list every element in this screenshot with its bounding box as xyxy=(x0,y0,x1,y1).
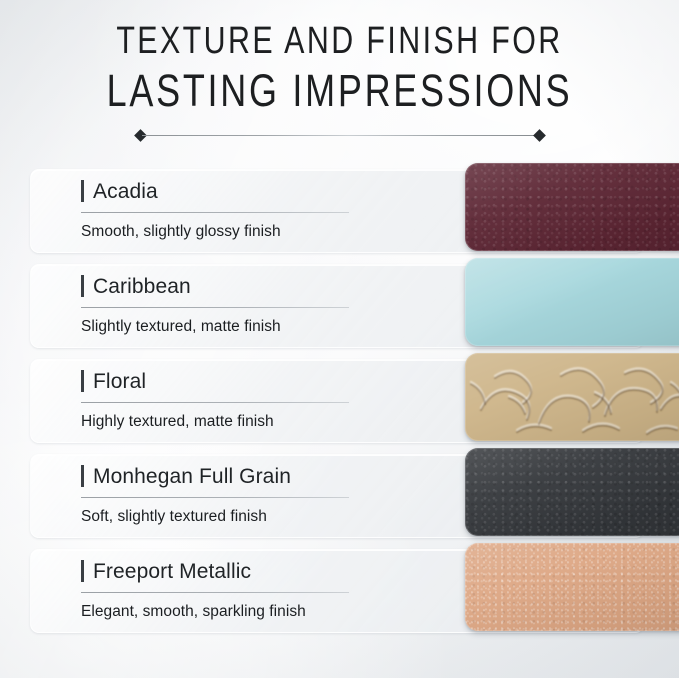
swatch-base-color xyxy=(465,543,679,631)
finish-row[interactable]: Monhegan Full GrainSoft, slightly textur… xyxy=(0,448,679,543)
finish-row[interactable]: FloralHighly textured, matte finish xyxy=(0,353,679,448)
finish-description: Smooth, slightly glossy finish xyxy=(81,224,381,240)
diamond-right-icon xyxy=(533,129,546,142)
finish-name-row: Freeport Metallic xyxy=(81,556,381,586)
finish-name-row: Caribbean xyxy=(81,271,381,301)
finish-list: AcadiaSmooth, slightly glossy finishCari… xyxy=(0,163,679,638)
title-divider-ornament xyxy=(136,130,544,141)
finish-card-text: AcadiaSmooth, slightly glossy finish xyxy=(81,176,381,240)
swatch-base-color xyxy=(465,163,679,251)
finish-name-row: Monhegan Full Grain xyxy=(81,461,381,491)
finish-name-row: Floral xyxy=(81,366,381,396)
finish-name-underline xyxy=(81,497,349,498)
finish-name-underline xyxy=(81,307,349,308)
finish-description: Highly textured, matte finish xyxy=(81,414,381,430)
finish-card-text: Freeport MetallicElegant, smooth, sparkl… xyxy=(81,556,381,620)
finish-description: Soft, slightly textured finish xyxy=(81,509,381,525)
accent-bar-icon xyxy=(81,180,84,202)
accent-bar-icon xyxy=(81,275,84,297)
color-swatch-acadia[interactable] xyxy=(465,163,679,251)
finish-name: Floral xyxy=(93,371,146,392)
finish-name: Monhegan Full Grain xyxy=(93,466,291,487)
divider-line xyxy=(142,135,538,136)
finish-row[interactable]: CaribbeanSlightly textured, matte finish xyxy=(0,258,679,353)
page-title-line-1: TEXTURE AND FINISH FOR xyxy=(68,22,611,60)
finish-name-underline xyxy=(81,212,349,213)
accent-bar-icon xyxy=(81,465,84,487)
color-swatch-freeport-metallic[interactable] xyxy=(465,543,679,631)
finish-name-row: Acadia xyxy=(81,176,381,206)
finish-name: Acadia xyxy=(93,181,158,202)
finish-name: Caribbean xyxy=(93,276,191,297)
finish-card-text: FloralHighly textured, matte finish xyxy=(81,366,381,430)
finish-row[interactable]: Freeport MetallicElegant, smooth, sparkl… xyxy=(0,543,679,638)
finish-name-underline xyxy=(81,592,349,593)
color-swatch-caribbean[interactable] xyxy=(465,258,679,346)
color-swatch-monhegan-full-grain[interactable] xyxy=(465,448,679,536)
accent-bar-icon xyxy=(81,560,84,582)
page-title-line-2: LASTING IMPRESSIONS xyxy=(68,68,611,113)
finish-name-underline xyxy=(81,402,349,403)
finish-row[interactable]: AcadiaSmooth, slightly glossy finish xyxy=(0,163,679,258)
swatch-base-color xyxy=(465,448,679,536)
finish-description: Elegant, smooth, sparkling finish xyxy=(81,604,381,620)
finish-card-text: CaribbeanSlightly textured, matte finish xyxy=(81,271,381,335)
swatch-base-color xyxy=(465,353,679,441)
swatch-base-color xyxy=(465,258,679,346)
finish-description: Slightly textured, matte finish xyxy=(81,319,381,335)
page-header: TEXTURE AND FINISH FOR LASTING IMPRESSIO… xyxy=(0,22,679,113)
finish-card-text: Monhegan Full GrainSoft, slightly textur… xyxy=(81,461,381,525)
accent-bar-icon xyxy=(81,370,84,392)
poster-canvas: TEXTURE AND FINISH FOR LASTING IMPRESSIO… xyxy=(0,0,679,678)
finish-name: Freeport Metallic xyxy=(93,561,251,582)
color-swatch-floral[interactable] xyxy=(465,353,679,441)
